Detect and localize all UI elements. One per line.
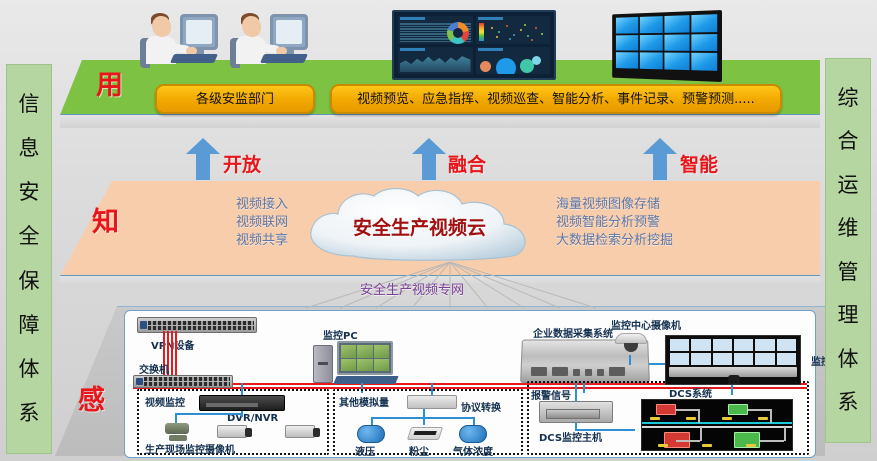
dust-sensor-icon [407,427,443,440]
site-camera-label: 生产现场监控摄像机 [145,441,235,456]
panel-title-bar [400,17,425,20]
keyboard-icon [170,54,218,63]
bubble-chart [478,53,549,73]
monitoring-pc-icon [313,341,405,385]
group-dcs: 报警信号 DCS监控主机 DCS系统 [527,381,809,455]
group-analog-signals: 其他模拟量 协议转换 液压 粉尘 气体浓度 [333,389,523,455]
dashboard-panel-kpi [398,16,473,44]
pillar-right-char: 系 [838,392,859,413]
pc-screen [337,341,393,375]
data-acquisition-label: 企业数据采集系统 [533,325,613,340]
sensor-label: 粉尘 [409,443,429,458]
keyboard-icon [260,54,308,63]
area-chart [400,50,471,72]
pc-tower [313,345,333,383]
riser-line [175,331,177,377]
center-camera-label: 监控中心摄像机 [611,317,681,332]
arrow-up-icon [186,138,220,180]
pillar-left-char: 障 [19,315,40,336]
video-group-label: 视频监控 [145,394,185,409]
box-camera-icon [285,425,315,438]
arrow-up-icon [643,138,677,180]
switch-label: 交换机 [139,361,169,376]
cloud-left-item: 视频联网 [158,214,288,232]
acquisition-ports [531,367,625,376]
pillar-right-char: 理 [838,305,859,326]
link-line [629,355,631,365]
link-line [241,411,243,417]
heat-legend [479,23,484,41]
center-camera-icon [615,333,647,355]
dcs-host-label: DCS监控主机 [539,429,602,444]
pillar-right-char: 综 [838,88,859,109]
alarm-signal-label: 报警信号 [531,387,571,402]
sensor-label: 气体浓度 [453,443,493,458]
architecture-diagram: 信 息 安 全 保 障 体 系 综 合 运 维 管 理 体 系 用 知 感 [0,0,877,461]
cloud-left-item: 视频接入 [158,196,288,214]
pillar-left-char: 信 [19,94,40,115]
ptz-camera-icon [165,421,191,441]
donut-chart [447,22,469,44]
scatter-plot [488,23,549,42]
pillar-left-char: 全 [19,226,40,247]
hydraulic-sensor-icon [357,425,385,443]
monitoring-pc-label: 监控PC [323,327,358,342]
operator-workstations [140,6,312,80]
arrow-up-icon [412,138,446,180]
pillar-left-char: 体 [19,359,40,380]
sensor-label: 液压 [355,443,375,458]
arrow-label-smart: 智能 [680,150,718,177]
sensing-layer-panel: VPN设备 交换机 监控PC 企业数据采集系统 [124,310,816,458]
link-line [423,409,425,425]
dvr-nvr-icon [199,395,285,411]
pillar-left-char: 系 [19,403,40,424]
control-room-screen-icon [665,335,801,385]
pillar-om-management: 综 合 运 维 管 理 体 系 [825,58,871,443]
link-line [371,417,373,425]
link-line [473,417,475,425]
panel-title-bar [400,48,425,51]
layer-use-edge [60,115,820,128]
cloud-right-item: 大数据检索分析挖掘 [556,232,736,250]
cloud-title: 安全生产视频云 [292,213,547,240]
link-line [241,383,243,395]
link-line [431,383,433,395]
pillar-left-char: 安 [19,182,40,203]
vpn-device-icon [137,317,257,333]
operator-person [140,6,218,80]
person-head [242,16,261,37]
callout-functions[interactable]: 视频预览、应急指挥、视频巡查、智能分析、事件记录、预警预测..... [330,84,782,114]
bi-dashboard-screen [392,10,556,80]
cloud-capabilities-left: 视频接入 视频联网 视频共享 [158,196,288,250]
analog-group-label: 其他模拟量 [339,394,389,409]
person-head [152,16,171,37]
protocol-converter-icon [407,395,457,409]
screen-wall-grid [670,339,796,365]
pillar-right-char: 体 [838,349,859,370]
pillar-right-char: 合 [838,131,859,152]
cloud-capabilities-right: 海量视频图像存储 视频智能分析预警 大数据检索分析挖掘 [556,196,736,250]
vpn-device-label: VPN设备 [151,337,194,352]
gas-sensor-icon [459,425,487,443]
dcs-host-icon [539,401,613,423]
dcs-system-label: DCS系统 [669,385,712,400]
private-network-label: 安全生产视频专网 [360,279,464,298]
video-wall-display [592,10,722,82]
panel-title-bar [478,17,503,20]
pc-keyboard [333,376,398,384]
riser-line [171,331,173,377]
video-wall-body [612,10,722,82]
dashboard-panel-trend [398,47,473,75]
cloud-right-item: 视频智能分析预警 [556,214,736,232]
callout-department[interactable]: 各级安监部门 [155,84,315,114]
link-line [575,429,635,431]
layer-label-use: 用 [96,63,123,102]
video-wall-grid [616,14,717,71]
pillar-information-security: 信 息 安 全 保 障 体 系 [6,64,52,454]
pillar-left-char: 保 [19,271,40,292]
link-line [575,383,577,401]
switch-icon [133,375,233,388]
operator-person [230,6,308,80]
arrow-label-merge: 融合 [448,150,486,177]
dashboard-panel-bubbles [476,47,551,75]
camera-lens [624,343,638,352]
pillar-left-char: 息 [19,138,40,159]
panel-title-bar [478,48,503,51]
group-video-surveillance: 视频监控 DVR/NVR 生产现场监控摄像机 [137,389,329,455]
box-camera-icon [217,425,247,438]
pillar-right-char: 运 [838,175,859,196]
dcs-hmi-screen [641,399,793,451]
pillar-right-char: 管 [838,262,859,283]
video-cloud-shape: 安全生产视频云 [292,186,547,264]
layer-label-know: 知 [92,200,119,239]
link-line [175,413,243,415]
layer-label-sense: 感 [78,378,105,417]
cloud-left-item: 视频共享 [158,232,288,250]
protocol-converter-label: 协议转换 [461,399,501,414]
cloud-right-item: 海量视频图像存储 [556,196,736,214]
pillar-right-char: 维 [838,218,859,239]
dashboard-panel-heatmap [476,16,551,44]
arrow-label-open: 开放 [223,150,261,177]
